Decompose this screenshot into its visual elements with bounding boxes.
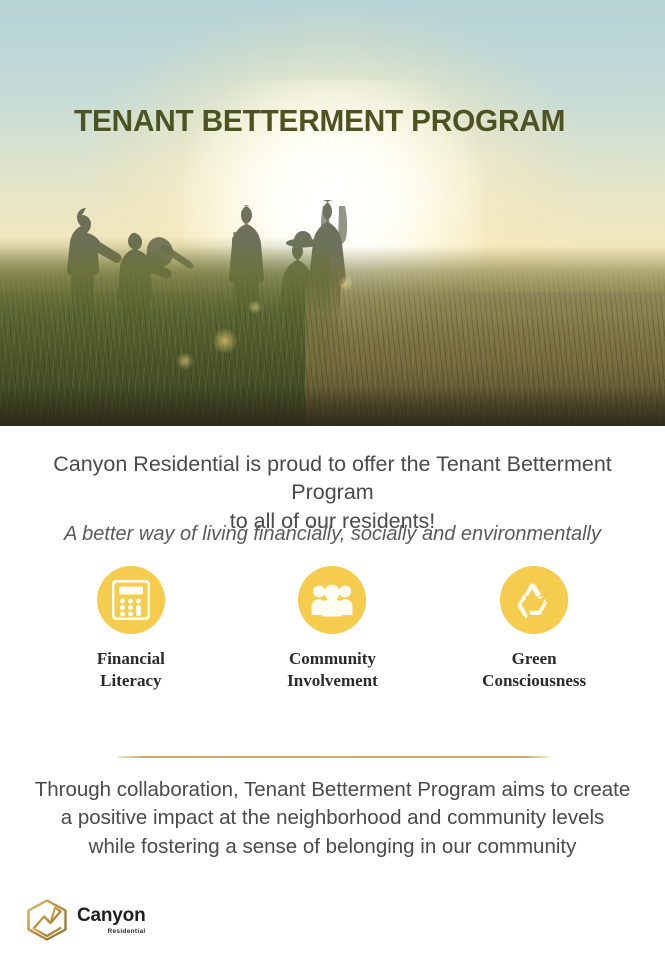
intro-line-1: Canyon Residential is proud to offer the… — [53, 452, 612, 504]
outro-paragraph: Through collaboration, Tenant Betterment… — [0, 776, 665, 861]
benefit-community-involvement[interactable]: Community Involvement — [242, 566, 422, 691]
dune-shadow — [0, 386, 665, 426]
section-divider — [118, 756, 550, 758]
outro-line-3: while fostering a sense of belonging in … — [89, 835, 577, 858]
benefit-green-consciousness[interactable]: Green Consciousness — [444, 566, 624, 691]
tagline: A better way of living financially, soci… — [0, 523, 665, 546]
canyon-hexagon-icon — [24, 898, 70, 942]
content-area: Canyon Residential is proud to offer the… — [0, 426, 665, 960]
benefit-label-line-2: Consciousness — [482, 671, 586, 690]
benefit-label-line-1: Financial — [97, 649, 165, 668]
outro-line-1: Through collaboration, Tenant Betterment… — [35, 778, 631, 801]
benefit-label-line-2: Involvement — [287, 671, 378, 690]
flyer-page: TENANT BETTERMENT PROGRAM Canyon Residen… — [0, 0, 665, 960]
benefit-label-line-1: Community — [289, 649, 376, 668]
calculator-icon — [112, 580, 150, 620]
logo-name: Canyon — [77, 906, 145, 925]
benefit-icon-badge — [97, 566, 165, 634]
logo-subtitle: Residential — [108, 928, 146, 935]
hero-banner: TENANT BETTERMENT PROGRAM — [0, 0, 665, 426]
logo-wordmark: Canyon Residential — [77, 906, 145, 935]
canyon-residential-logo[interactable]: Canyon Residential — [24, 898, 145, 942]
outro-line-2: a positive impact at the neighborhood an… — [61, 806, 605, 829]
benefit-label: Community Involvement — [287, 648, 378, 691]
benefit-icon-badge — [500, 566, 568, 634]
benefit-icon-badge — [298, 566, 366, 634]
benefits-row: Financial Literacy — [0, 566, 665, 691]
page-title: TENANT BETTERMENT PROGRAM — [74, 103, 565, 139]
benefit-label-line-1: Green — [512, 649, 557, 668]
benefit-label-line-2: Literacy — [100, 671, 161, 690]
benefit-financial-literacy[interactable]: Financial Literacy — [41, 566, 221, 691]
recycle-icon — [514, 581, 554, 619]
benefit-label: Financial Literacy — [97, 648, 165, 691]
benefit-label: Green Consciousness — [482, 648, 586, 691]
people-group-icon — [311, 583, 353, 617]
